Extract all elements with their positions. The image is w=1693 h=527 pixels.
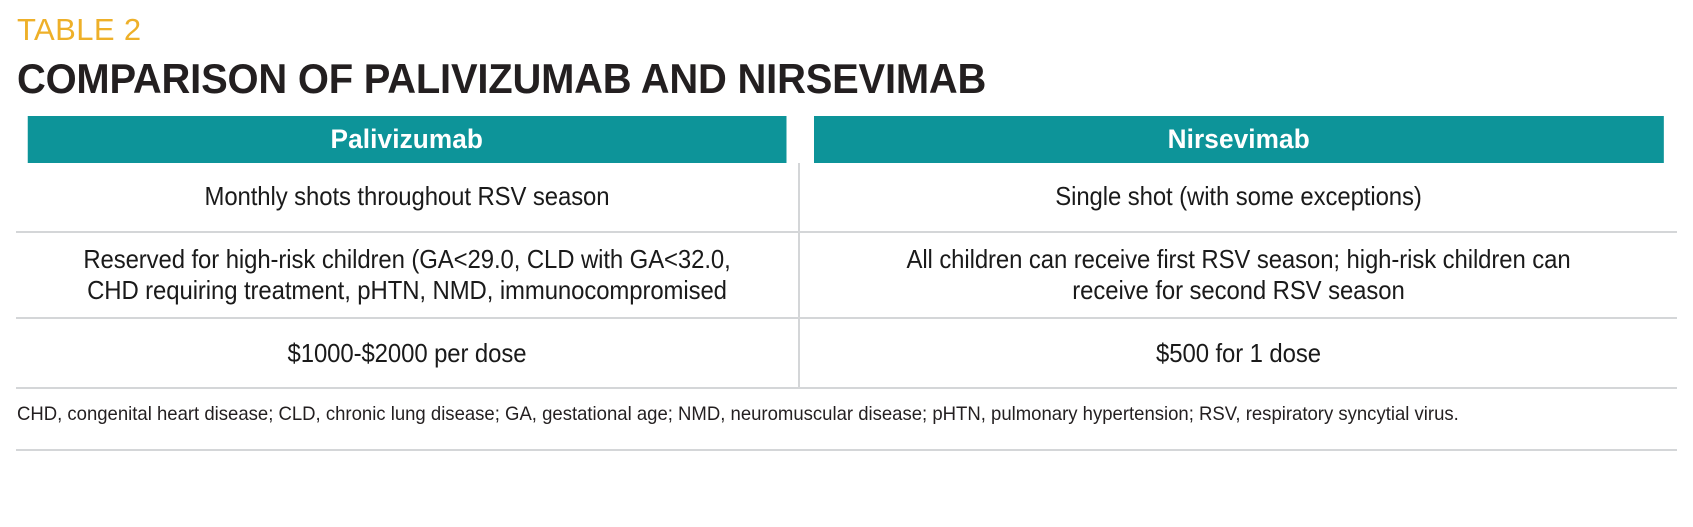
cell-eligibility-nirsevimab: All children can receive first RSV seaso… <box>799 232 1677 318</box>
cell-line: $500 for 1 dose <box>848 338 1629 369</box>
cell-line: All children can receive first RSV seaso… <box>848 244 1629 275</box>
cell-line: Single shot (with some exceptions) <box>848 181 1629 212</box>
table-title: COMPARISON OF PALIVIZUMAB AND NIRSEVIMAB <box>16 45 1594 100</box>
table-row: Reserved for high-risk children (GA<29.0… <box>16 232 1677 318</box>
table-number-label: TABLE 2 <box>16 0 1677 45</box>
table-header: Palivizumab Nirsevimab <box>16 116 1677 163</box>
cell-line: $1000-$2000 per dose <box>60 338 754 369</box>
cell-line: CHD requiring treatment, pHTN, NMD, immu… <box>60 275 754 306</box>
cell-cost-palivizumab: $1000-$2000 per dose <box>16 318 799 388</box>
cell-dosing-palivizumab: Monthly shots throughout RSV season <box>16 163 799 232</box>
cell-eligibility-palivizumab: Reserved for high-risk children (GA<29.0… <box>16 232 799 318</box>
cell-line: receive for second RSV season <box>848 275 1629 306</box>
comparison-table-wrapper: Palivizumab Nirsevimab Monthly shots thr… <box>16 116 1677 389</box>
bottom-divider <box>16 449 1677 451</box>
table-body: Monthly shots throughout RSV season Sing… <box>16 163 1677 388</box>
table-row: $1000-$2000 per dose $500 for 1 dose <box>16 318 1677 388</box>
table-figure: TABLE 2 COMPARISON OF PALIVIZUMAB AND NI… <box>0 0 1693 527</box>
column-header-nirsevimab: Nirsevimab <box>812 116 1664 163</box>
header-row: Palivizumab Nirsevimab <box>16 116 1677 163</box>
table-row: Monthly shots throughout RSV season Sing… <box>16 163 1677 232</box>
column-header-palivizumab: Palivizumab <box>28 116 788 163</box>
comparison-table: Palivizumab Nirsevimab Monthly shots thr… <box>16 116 1677 389</box>
abbreviations-footnote: CHD, congenital heart disease; CLD, chro… <box>16 389 1594 426</box>
cell-dosing-nirsevimab: Single shot (with some exceptions) <box>799 163 1677 232</box>
cell-cost-nirsevimab: $500 for 1 dose <box>799 318 1677 388</box>
cell-line: Reserved for high-risk children (GA<29.0… <box>60 244 754 275</box>
cell-line: Monthly shots throughout RSV season <box>60 181 754 212</box>
